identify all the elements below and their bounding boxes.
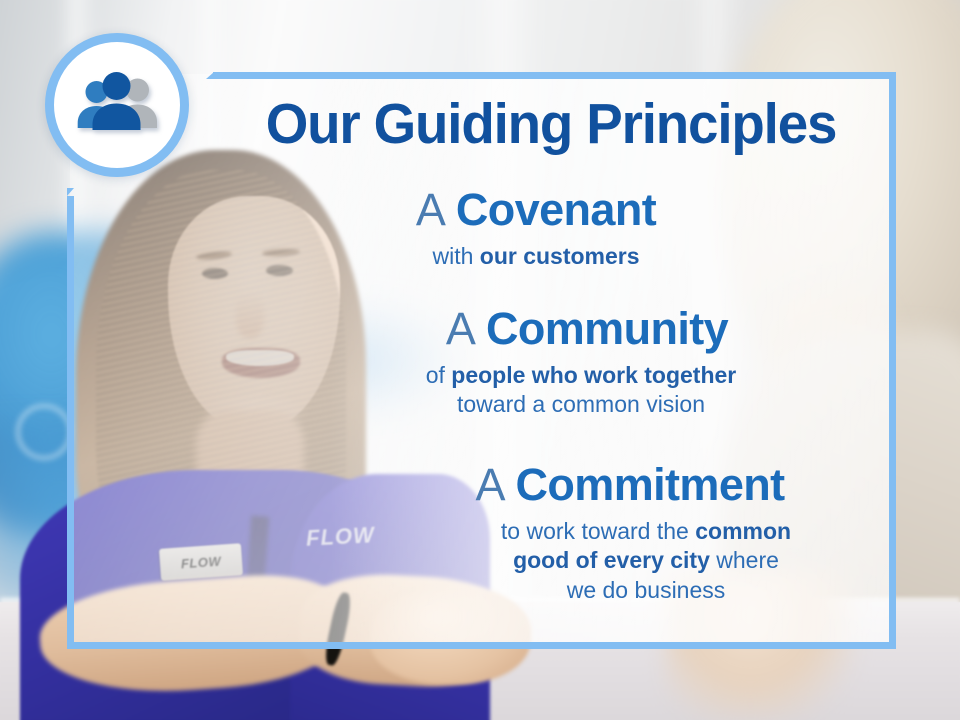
people-group-icon: [71, 71, 163, 139]
emphasis-text: common: [695, 518, 791, 544]
principle-subtext-line: toward a common vision: [273, 390, 889, 420]
plain-text: we do business: [567, 577, 726, 603]
principle-subtext-line: of people who work together: [273, 361, 889, 391]
banner-graphic: FLOW FLOW: [0, 0, 960, 720]
principle-keyword: Commitment: [516, 459, 785, 510]
background-vw-emblem: [16, 404, 72, 460]
plain-text: with: [432, 243, 479, 269]
principle-subtext: of people who work together toward a com…: [213, 361, 889, 421]
principle-article: A: [475, 459, 503, 510]
plain-text: to work toward the: [501, 518, 695, 544]
principle-article: A: [416, 184, 444, 235]
principle-subtext-line: good of every city where: [403, 546, 889, 576]
plain-text: toward a common vision: [457, 391, 705, 417]
emphasis-text: our customers: [480, 243, 640, 269]
principle-subtext-line: we do business: [403, 576, 889, 606]
principle-headline: A Covenant: [213, 186, 889, 235]
principle-keyword: Community: [486, 303, 728, 354]
page-title: Our Guiding Principles: [227, 96, 876, 153]
principle-commitment: A Commitment to work toward the common g…: [213, 461, 889, 606]
emphasis-text: good of every city: [513, 547, 710, 573]
principle-subtext-line: with our customers: [213, 242, 859, 272]
principle-subtext-line: to work toward the common: [403, 517, 889, 547]
principle-community: A Community of people who work together …: [213, 305, 889, 420]
principle-keyword: Covenant: [456, 184, 656, 235]
principles-content: Our Guiding Principles A Covenant with o…: [213, 78, 889, 642]
principle-headline: A Community: [213, 305, 889, 354]
emphasis-text: people who work together: [451, 362, 736, 388]
plain-text: of: [426, 362, 452, 388]
principle-covenant: A Covenant with our customers: [213, 186, 889, 271]
plain-text: where: [710, 547, 779, 573]
people-group-badge: [45, 33, 189, 177]
principle-headline: A Commitment: [213, 461, 889, 510]
principle-subtext: with our customers: [213, 242, 889, 272]
principle-subtext: to work toward the common good of every …: [213, 517, 889, 607]
principle-article: A: [446, 303, 474, 354]
